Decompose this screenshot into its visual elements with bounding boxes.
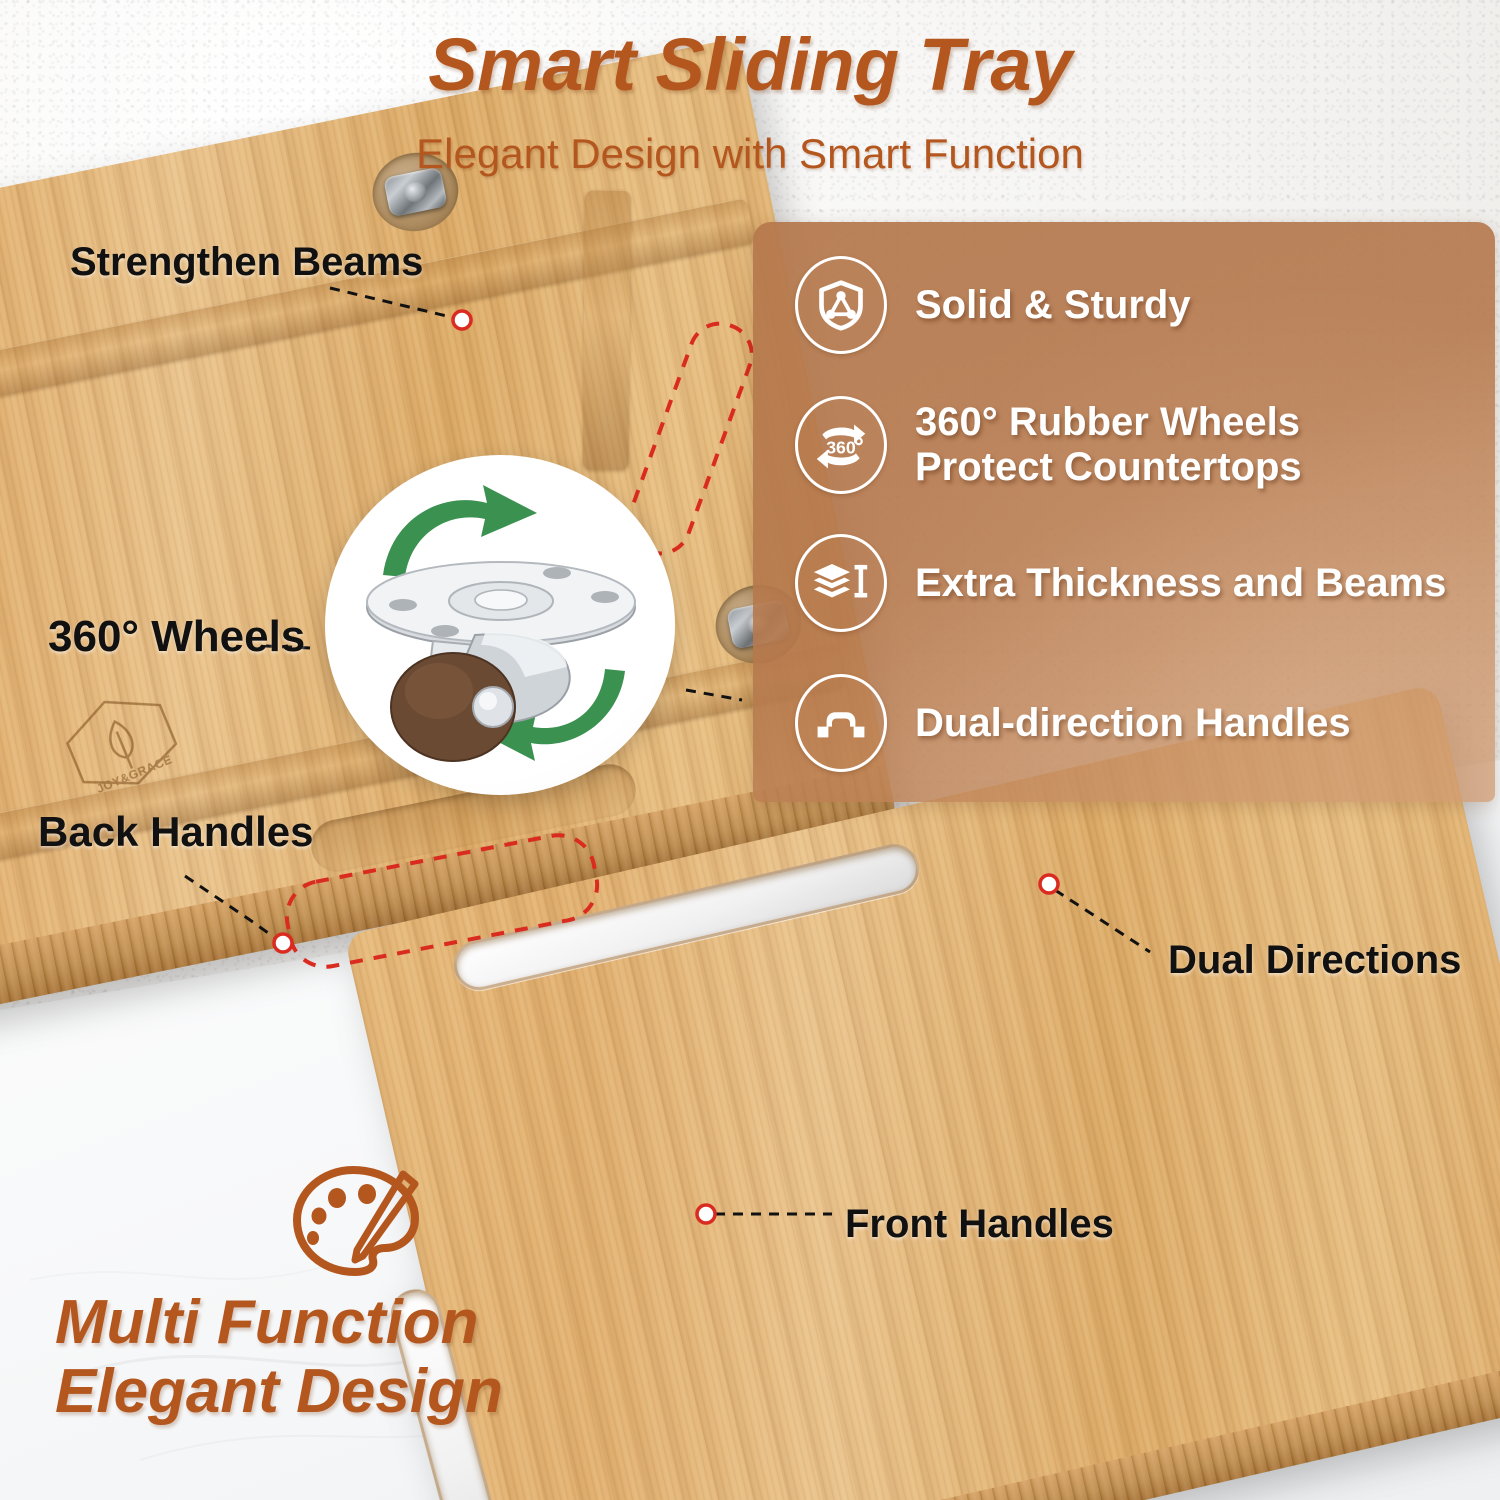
feature-panel: Solid & Sturdy 360 360° Rubber Wheels Pr… [753, 222, 1495, 802]
feature-label-line: 360° Rubber Wheels [915, 400, 1302, 445]
feature-item-solid-sturdy: Solid & Sturdy [753, 256, 1495, 354]
callout-front-handles: Front Handles [845, 1202, 1114, 1247]
feature-item-dual-direction-handles: Dual-direction Handles [753, 674, 1495, 772]
feature-item-extra-thickness: Extra Thickness and Beams [753, 534, 1495, 632]
caster-axle [473, 687, 513, 727]
footer-tagline-line1: Multi Function [55, 1288, 655, 1357]
feature-label-line: Extra Thickness and Beams [915, 561, 1446, 606]
callout-dual-directions: Dual Directions [1168, 938, 1461, 983]
360-rotation-icon: 360 [795, 396, 887, 494]
footer-tagline-block: Multi Function Elegant Design [55, 1160, 655, 1427]
feature-label: Dual-direction Handles [915, 701, 1351, 746]
palette-icon [275, 1160, 435, 1280]
shield-icon [795, 256, 887, 354]
feature-label: Extra Thickness and Beams [915, 561, 1446, 606]
handle-icon [795, 674, 887, 772]
layers-thickness-icon [795, 534, 887, 632]
svg-text:360: 360 [826, 437, 856, 457]
feature-label-line: Solid & Sturdy [915, 283, 1191, 328]
caster-wheel-illustration [325, 455, 675, 795]
footer-tagline-line2: Elegant Design [55, 1357, 655, 1426]
feature-label: 360° Rubber Wheels Protect Countertops [915, 400, 1302, 490]
feature-label-line: Protect Countertops [915, 445, 1302, 490]
feature-label: Solid & Sturdy [915, 283, 1191, 328]
product-infographic: JOY&GRACE [0, 0, 1500, 1500]
callout-strengthen-beams: Strengthen Beams [70, 240, 423, 285]
strengthen-beam-angled [582, 189, 630, 469]
callout-back-handles: Back Handles [38, 808, 313, 856]
feature-item-360-wheels: 360 360° Rubber Wheels Protect Counterto… [753, 396, 1495, 494]
page-title: Smart Sliding Tray [0, 22, 1500, 107]
callout-360-wheels: 360° Wheels [48, 612, 305, 662]
caster-wheel-detail-inset [325, 455, 675, 795]
page-subtitle: Elegant Design with Smart Function [0, 130, 1500, 178]
feature-label-line: Dual-direction Handles [915, 701, 1351, 746]
